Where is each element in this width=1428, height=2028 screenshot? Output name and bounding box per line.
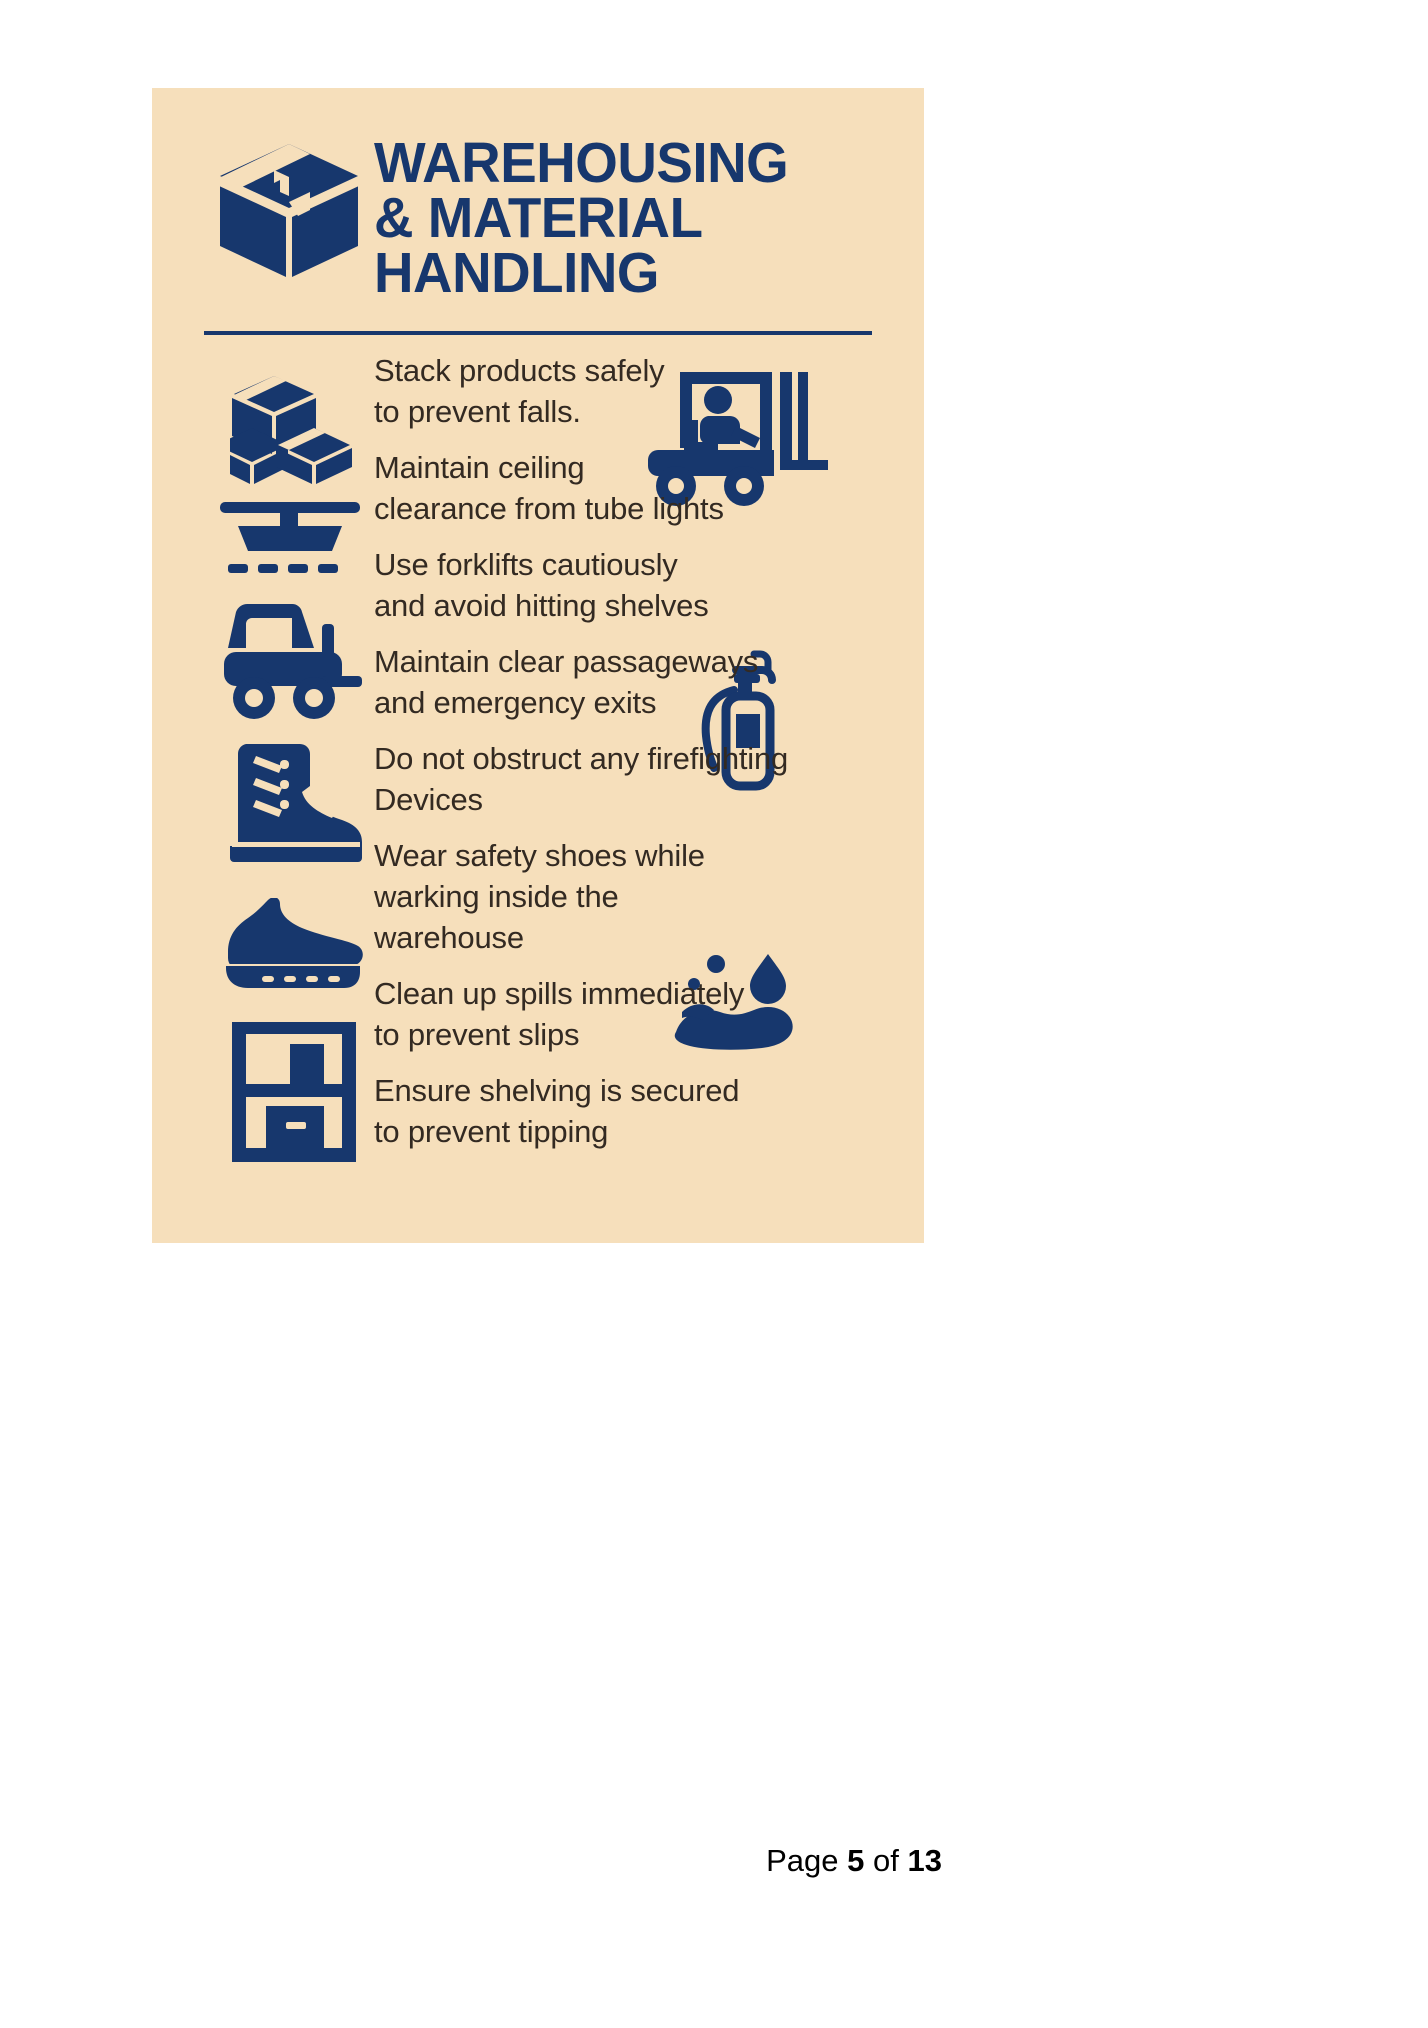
shelving-rack-icon — [230, 1022, 358, 1162]
tip-clear-passageways: Maintain clear passageways and emergency… — [374, 641, 874, 723]
of-label: of — [873, 1843, 899, 1878]
tip-line: to prevent falls. — [374, 391, 874, 432]
title-line-2: & MATERIAL — [374, 191, 892, 246]
tip-use-forklifts: Use forklifts cautiously and avoid hitti… — [374, 544, 874, 626]
page-footer: Page 5 of 13 — [0, 1840, 1428, 1910]
page-title: WAREHOUSING & MATERIAL HANDLING — [374, 136, 892, 301]
tip-secure-shelving: Ensure shelving is secured to prevent ti… — [374, 1070, 874, 1152]
tip-line: Do not obstruct any firefighting — [374, 738, 874, 779]
title-divider — [204, 331, 872, 335]
title-line-3: HANDLING — [374, 246, 892, 301]
document-page: WAREHOUSING & MATERIAL HANDLING — [0, 0, 1428, 2028]
tip-line: and avoid hitting shelves — [374, 585, 874, 626]
tip-line: Wear safety shoes while — [374, 835, 874, 876]
page-label: Page — [766, 1843, 838, 1878]
poster-header: WAREHOUSING & MATERIAL HANDLING — [152, 88, 924, 348]
total-page-count: 13 — [907, 1843, 941, 1878]
title-line-1: WAREHOUSING — [374, 136, 892, 191]
tip-line: Clean up spills immediately — [374, 973, 874, 1014]
safety-shoe-icon — [218, 898, 366, 994]
current-page-number: 5 — [847, 1843, 864, 1878]
page-number: Page 5 of 13 — [766, 1840, 942, 1882]
tip-line: Maintain clear passageways — [374, 641, 874, 682]
tip-line: and emergency exits — [374, 682, 874, 723]
tip-line: warking inside the — [374, 876, 874, 917]
tips-list: Stack products safely to prevent falls. … — [374, 350, 874, 1152]
tip-line: Use forklifts cautiously — [374, 544, 874, 585]
tip-line: Devices — [374, 779, 874, 820]
tip-line: to prevent slips — [374, 1014, 874, 1055]
safety-boot-icon — [222, 742, 364, 862]
tip-line: Stack products safely — [374, 350, 874, 391]
tip-icon-column — [152, 350, 374, 1243]
tip-line: to prevent tipping — [374, 1111, 874, 1152]
poster-body: Stack products safely to prevent falls. … — [152, 350, 924, 1243]
tip-clean-spills: Clean up spills immediately to prevent s… — [374, 973, 874, 1055]
stacked-boxes-icon — [230, 374, 354, 486]
ceiling-light-icon — [220, 502, 360, 580]
tip-line: warehouse — [374, 917, 874, 958]
forklift-truck-icon — [218, 598, 364, 724]
tip-line: Ensure shelving is secured — [374, 1070, 874, 1111]
tip-wear-safety-shoes: Wear safety shoes while warking inside t… — [374, 835, 874, 958]
tip-stack-products: Stack products safely to prevent falls. — [374, 350, 874, 432]
safety-poster: WAREHOUSING & MATERIAL HANDLING — [152, 88, 924, 1243]
tip-firefighting-devices: Do not obstruct any firefighting Devices — [374, 738, 874, 820]
tip-ceiling-clearance: Maintain ceiling clearance from tube lig… — [374, 447, 874, 529]
tip-line: clearance from tube lights — [374, 488, 874, 529]
tip-line: Maintain ceiling — [374, 447, 874, 488]
cardboard-box-icon — [214, 140, 364, 280]
